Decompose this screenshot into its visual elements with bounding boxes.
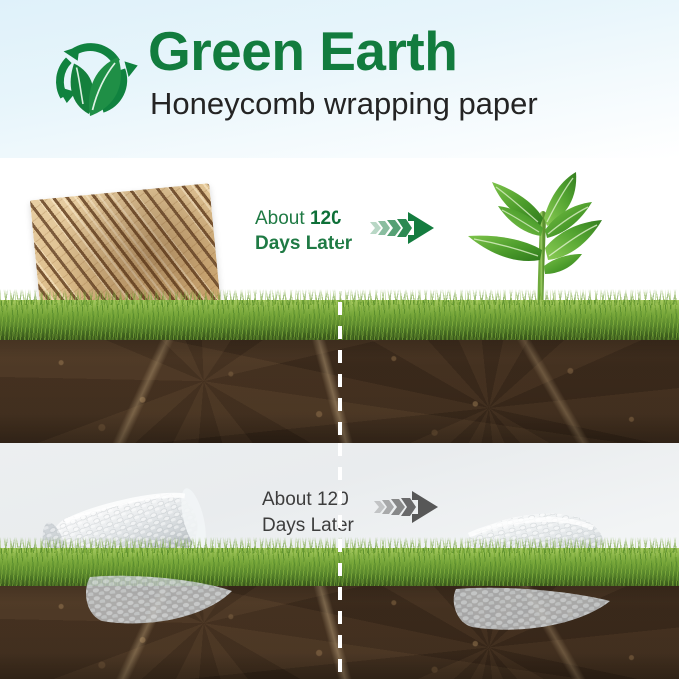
brand-text-block: Green Earth Honeycomb wrapping paper [148,20,648,124]
callout-top-days-value: 120 [310,208,342,229]
green-right-arrow-icon [370,208,436,248]
page-subtitle: Honeycomb wrapping paper [150,84,648,124]
dashed-vertical-divider-top [338,158,342,443]
scene-non-biodegradable: About 120 Days Later [0,443,679,679]
product-infographic: Green Earth Honeycomb wrapping paper [0,0,679,679]
bubble-wrap-sunken-left [80,573,240,639]
gray-right-arrow-icon [374,487,440,527]
scene-biodegradable: About 120 Days Later [0,158,679,443]
bubble-wrap-sunken-right [448,585,618,645]
page-title: Green Earth [148,20,648,82]
callout-bottom-days-value: 120 [317,489,349,510]
dashed-vertical-divider-bottom [338,443,342,679]
brand-header: Green Earth Honeycomb wrapping paper [0,0,679,158]
recycle-leaf-icon [40,32,144,132]
